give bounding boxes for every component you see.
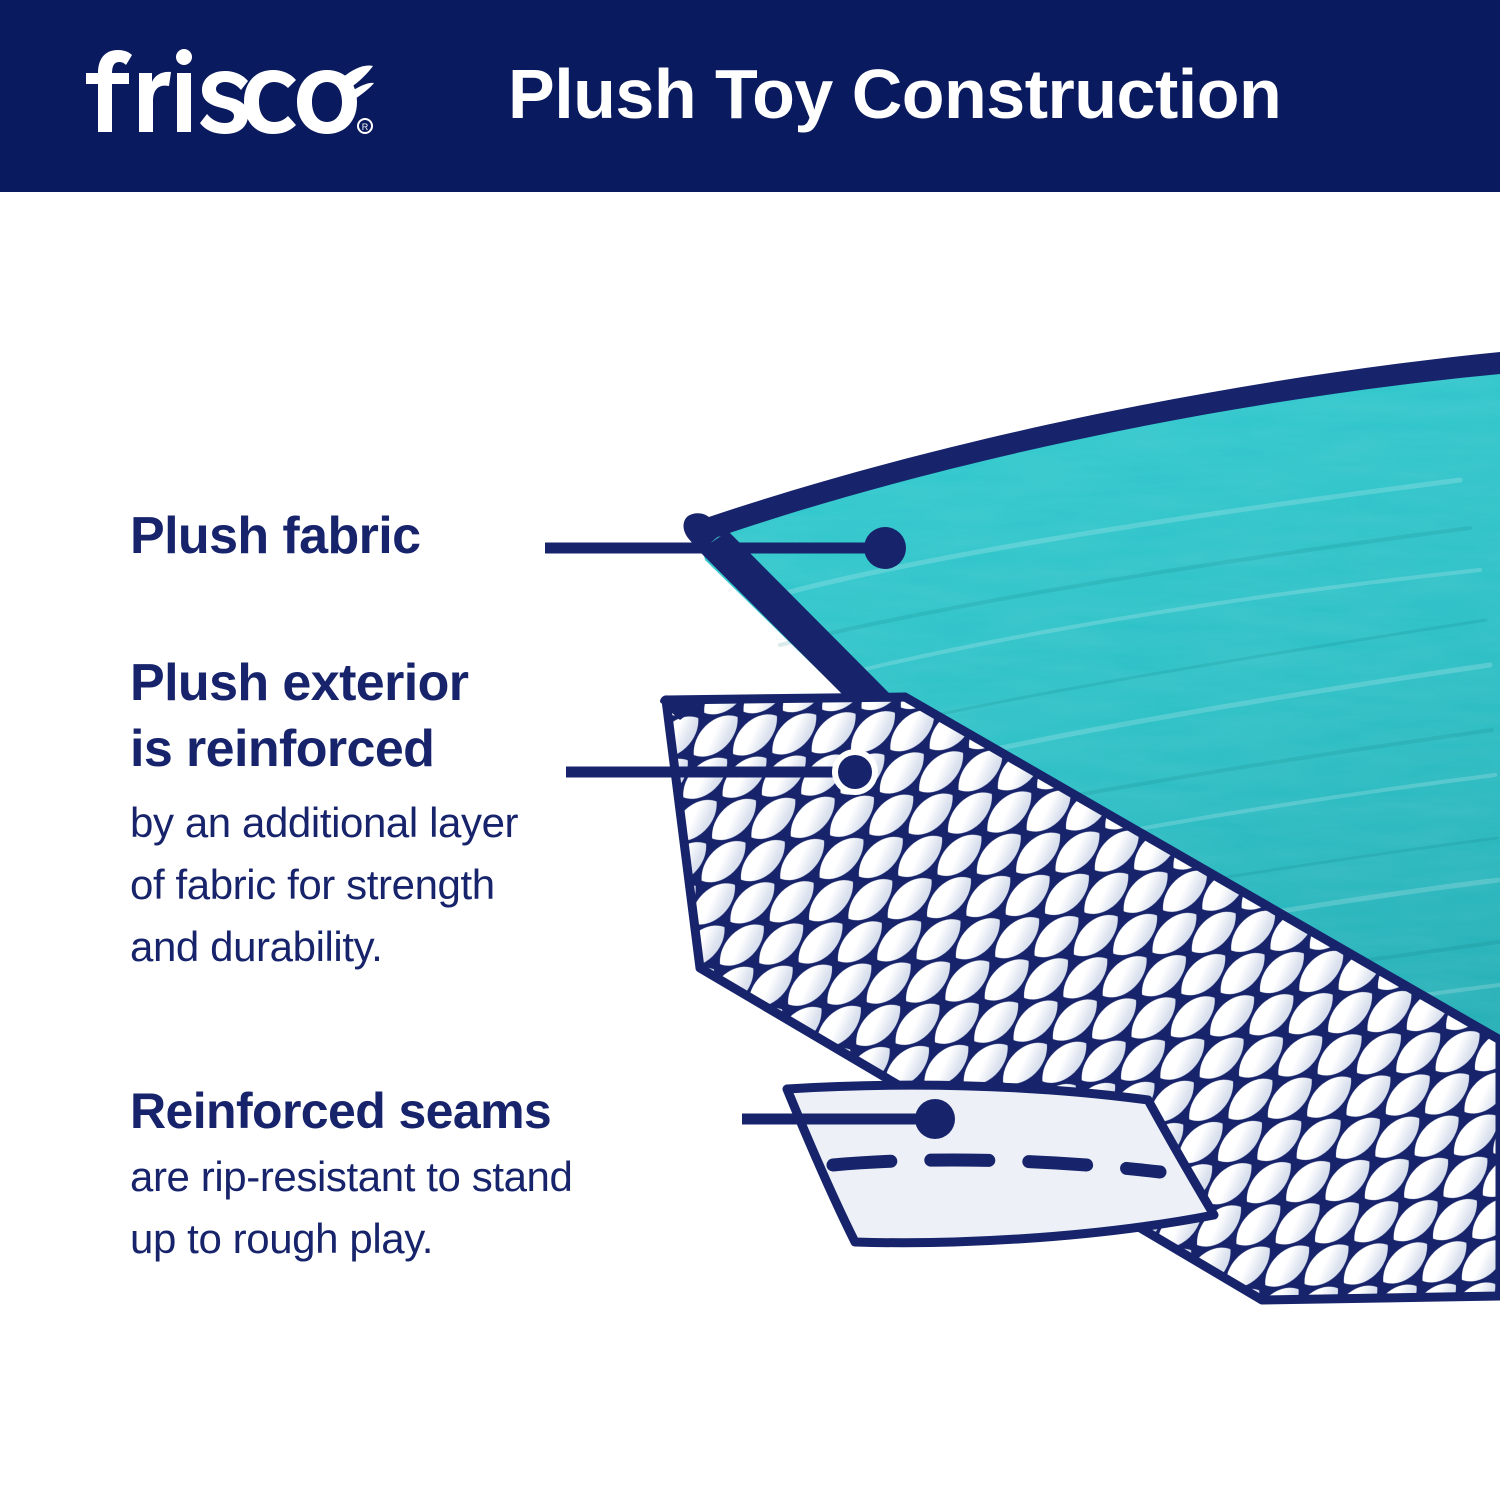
- callout-plush-exterior-body-line-3: and durability.: [130, 916, 518, 978]
- callout-plush-exterior-body-line-1: by an additional layer: [130, 792, 518, 854]
- callout-plush-fabric: Plush fabric: [130, 505, 420, 567]
- callout-plush-exterior-body-line-2: of fabric for strength: [130, 854, 518, 916]
- callout-plush-exterior-heading-line-2: is reinforced: [130, 716, 518, 782]
- plush-fabric-panel: [700, 372, 1500, 1188]
- callout-plush-exterior: Plush exterior is reinforced by an addit…: [130, 650, 518, 978]
- callout-plush-fabric-heading: Plush fabric: [130, 505, 420, 567]
- callout-reinforced-seams-body: are rip-resistant to stand up to rough p…: [130, 1146, 572, 1270]
- callout-labels: Plush fabric Plush exterior is reinforce…: [0, 0, 820, 1500]
- seam-flap: [787, 1085, 1214, 1243]
- infographic-page: R Plush Toy Construction: [0, 0, 1500, 1500]
- callout-reinforced-seams-heading: Reinforced seams: [130, 1080, 572, 1142]
- callout-plush-exterior-heading-line-1: Plush exterior: [130, 650, 518, 716]
- callout-plush-exterior-body: by an additional layer of fabric for str…: [130, 792, 518, 978]
- callout-reinforced-seams: Reinforced seams are rip-resistant to st…: [130, 1080, 572, 1270]
- callout-reinforced-seams-body-line-1: are rip-resistant to stand: [130, 1146, 572, 1208]
- stitch-line: [833, 1160, 1160, 1172]
- callout-reinforced-seams-body-line-2: up to rough play.: [130, 1208, 572, 1270]
